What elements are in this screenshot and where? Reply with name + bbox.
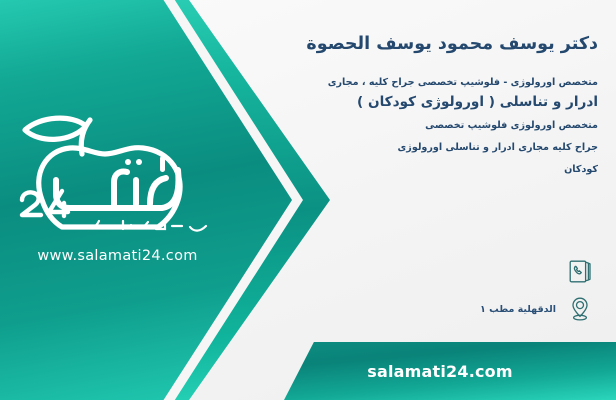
- doctor-name: دکتر يوسف محمود يوسف الحصوة: [246, 32, 598, 57]
- doctor-info: دکتر يوسف محمود يوسف الحصوة متخصص اورولو…: [246, 32, 598, 179]
- contact-row-location[interactable]: الدقهلية مطب ۱: [262, 290, 602, 328]
- brand-url: www.salamati24.com: [10, 248, 225, 264]
- brand-logo: www.salamati24.com: [10, 108, 225, 273]
- clinic-address: الدقهلية مطب ۱: [262, 304, 558, 315]
- specialty-line-5: کودکان: [246, 162, 598, 179]
- footer-site-label[interactable]: salamati24.com: [367, 362, 533, 381]
- contact-row-phone[interactable]: [262, 252, 602, 290]
- contact-block: الدقهلية مطب ۱: [262, 252, 602, 328]
- business-card-canvas: www.salamati24.com دکتر يوسف محمود يوسف …: [0, 0, 616, 400]
- phone-book-icon[interactable]: [558, 259, 602, 284]
- doctor-specialties: متخصص اورولوژی - فلوشیپ تخصصی جراح کلیه …: [246, 76, 598, 178]
- map-pin-icon[interactable]: [558, 296, 602, 322]
- specialty-line-2: ادرار و تناسلی ( اورولوژی کودکان ): [246, 92, 598, 113]
- specialty-line-3: متخصص اورولوژی فلوشیپ تخصصی: [246, 118, 598, 135]
- footer-bar: salamati24.com: [284, 342, 616, 400]
- apple-leaf-logo-icon: [10, 108, 225, 248]
- specialty-line-4: جراح کلیه مجاری ادرار و تناسلی اورولوژی: [246, 140, 598, 157]
- specialty-line-1: متخصص اورولوژی - فلوشیپ تخصصی جراح کلیه …: [246, 76, 598, 91]
